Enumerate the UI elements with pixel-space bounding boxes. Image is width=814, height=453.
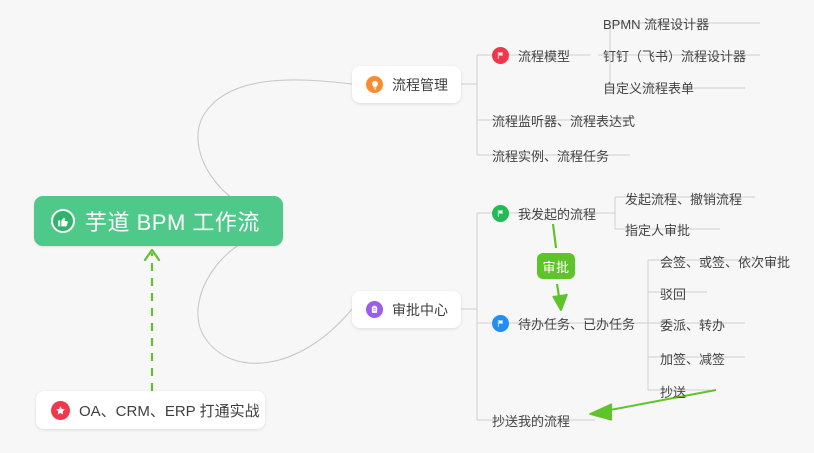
- mindmap-canvas: 芋道 BPM 工作流 流程管理 流程模型 BPMN 流程设计器 钉钉（飞书）流程…: [0, 0, 814, 453]
- node-instance-task-label: 流程实例、流程任务: [492, 146, 609, 165]
- node-daiban-yiban-renwu[interactable]: 待办任务、已办任务: [492, 310, 635, 336]
- node-reject-label: 驳回: [660, 284, 686, 303]
- node-add-remove-sign-label: 加签、减签: [660, 349, 725, 368]
- node-chaosong-wo-de-liucheng[interactable]: 抄送我的流程: [492, 407, 570, 433]
- node-start-cancel-process-label: 发起流程、撤销流程: [625, 189, 742, 208]
- approval-pill-label: 审批: [542, 257, 569, 276]
- star-icon: [51, 401, 70, 420]
- flag-icon: [492, 47, 509, 64]
- node-listener-expression[interactable]: 流程监听器、流程表达式: [492, 107, 635, 133]
- node-cc-label: 抄送: [660, 382, 686, 401]
- node-custom-process-form-label: 自定义流程表单: [603, 78, 694, 97]
- root-label: 芋道 BPM 工作流: [85, 205, 260, 237]
- node-start-cancel-process[interactable]: 发起流程、撤销流程: [625, 185, 742, 211]
- cc-flow-arrow: [590, 390, 716, 420]
- node-add-remove-sign[interactable]: 加签、减签: [660, 345, 725, 371]
- node-cc[interactable]: 抄送: [660, 378, 686, 404]
- flag-icon: [492, 205, 509, 222]
- node-assignee-approval-label: 指定人审批: [625, 220, 690, 239]
- node-custom-process-form[interactable]: 自定义流程表单: [603, 74, 694, 100]
- node-dingding-feishu-designer-label: 钉钉（飞书）流程设计器: [603, 46, 746, 65]
- node-countersign[interactable]: 会签、或签、依次审批: [660, 248, 790, 274]
- node-wo-faqi-de-liucheng-label: 我发起的流程: [518, 204, 596, 223]
- node-shenpi-zhongxin[interactable]: 审批中心: [352, 291, 461, 328]
- node-chaosong-wo-de-liucheng-label: 抄送我的流程: [492, 411, 570, 430]
- dashed-arrow-to-root: [145, 250, 159, 391]
- node-bpmn-designer-label: BPMN 流程设计器: [603, 14, 709, 33]
- node-oa-crm-erp-note[interactable]: OA、CRM、ERP 打通实战: [36, 391, 265, 429]
- flag-icon: [492, 315, 509, 332]
- node-reject[interactable]: 驳回: [660, 280, 686, 306]
- node-liucheng-moxing-label: 流程模型: [518, 46, 570, 65]
- node-wo-faqi-de-liucheng[interactable]: 我发起的流程: [492, 200, 596, 226]
- node-bpmn-designer[interactable]: BPMN 流程设计器: [603, 10, 709, 36]
- node-liucheng-guanli[interactable]: 流程管理: [352, 66, 461, 103]
- node-delegate-transfer[interactable]: 委派、转办: [660, 311, 725, 337]
- node-assignee-approval[interactable]: 指定人审批: [625, 216, 690, 242]
- lightbulb-icon: [366, 76, 383, 93]
- thumbs-up-icon: [51, 209, 75, 233]
- node-liucheng-guanli-label: 流程管理: [392, 75, 448, 95]
- node-instance-task[interactable]: 流程实例、流程任务: [492, 142, 609, 168]
- approval-pill: 审批: [537, 253, 575, 279]
- clipboard-icon: [366, 301, 383, 318]
- node-shenpi-zhongxin-label: 审批中心: [392, 300, 448, 320]
- root-node[interactable]: 芋道 BPM 工作流: [34, 196, 283, 246]
- node-delegate-transfer-label: 委派、转办: [660, 315, 725, 334]
- node-dingding-feishu-designer[interactable]: 钉钉（飞书）流程设计器: [603, 42, 746, 68]
- node-daiban-yiban-renwu-label: 待办任务、已办任务: [518, 314, 635, 333]
- node-listener-expression-label: 流程监听器、流程表达式: [492, 111, 635, 130]
- node-oa-crm-erp-label: OA、CRM、ERP 打通实战: [79, 400, 260, 421]
- node-liucheng-moxing[interactable]: 流程模型: [492, 42, 570, 68]
- node-countersign-label: 会签、或签、依次审批: [660, 252, 790, 271]
